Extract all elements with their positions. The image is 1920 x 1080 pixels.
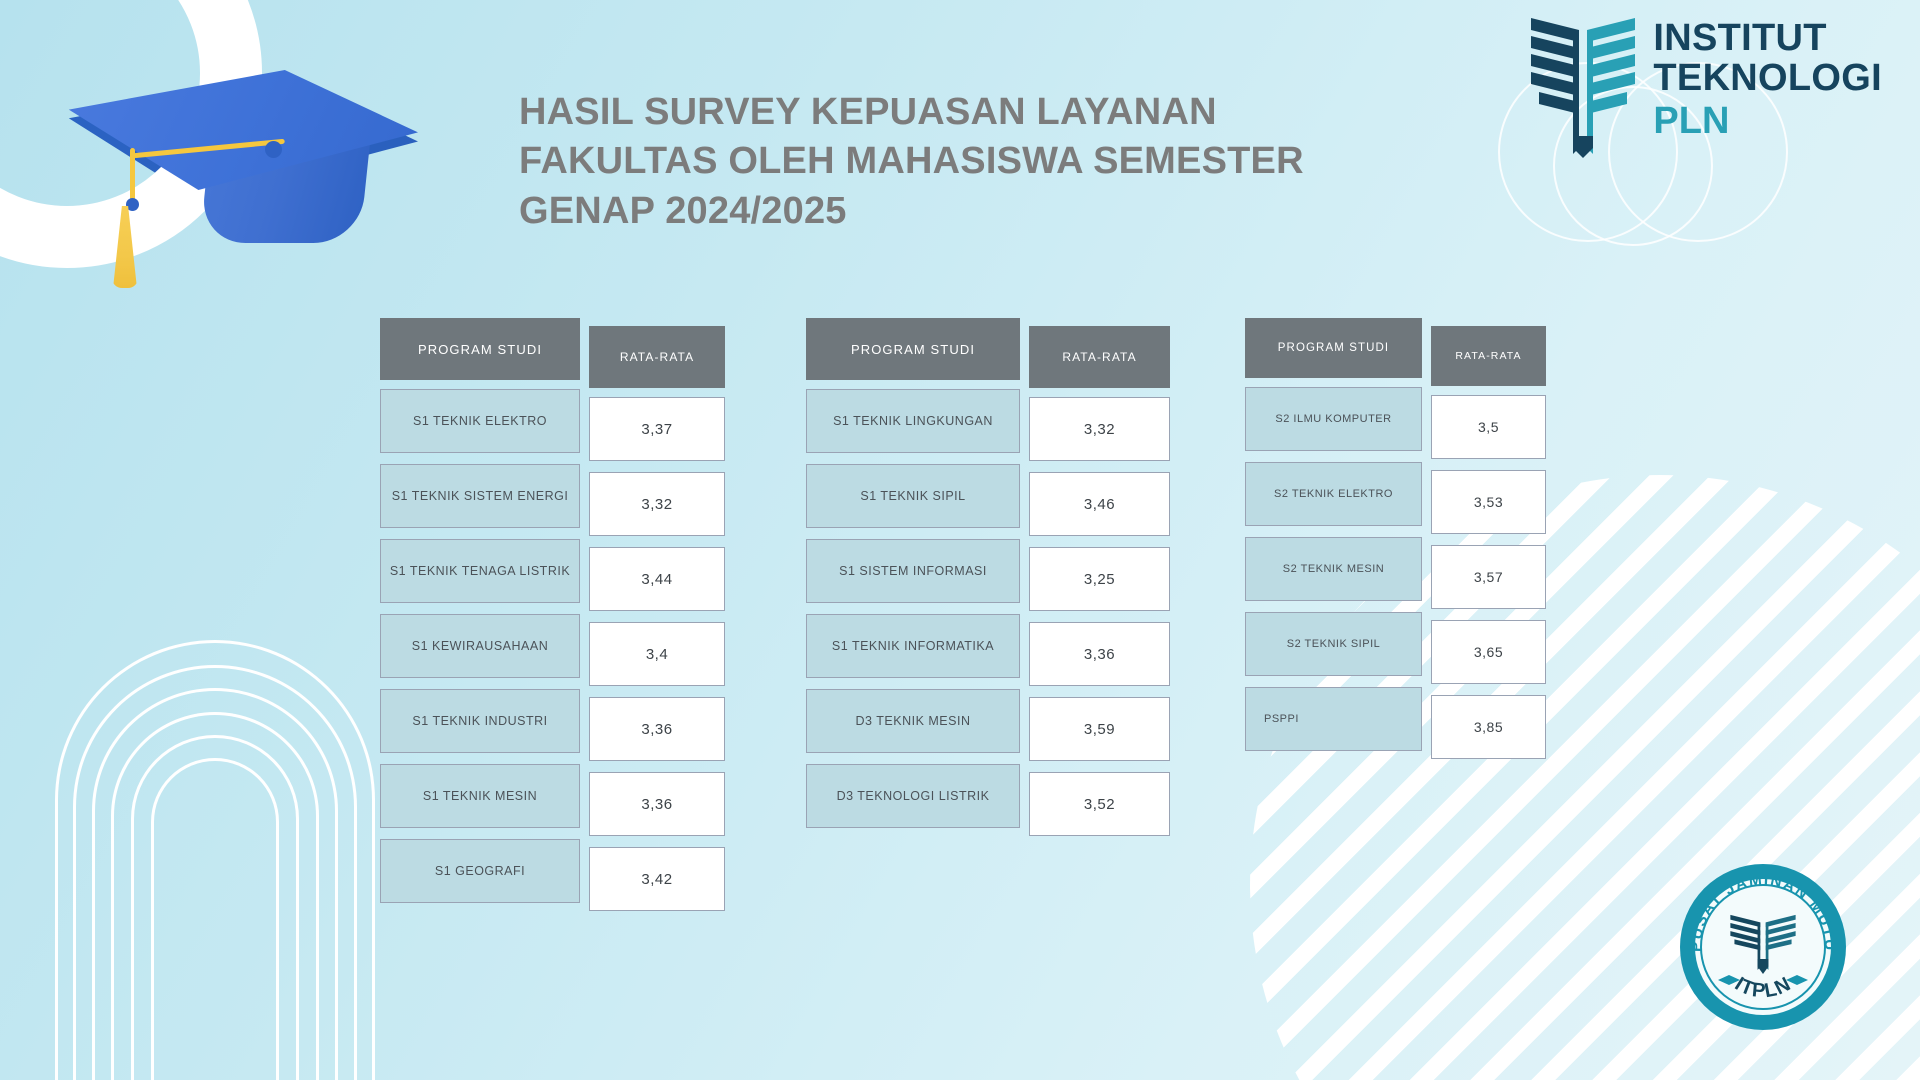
table-row: S1 TEKNIK ELEKTRO [380,389,580,453]
survey-table-2: PROGRAM STUDI S1 TEKNIK LINGKUNGAN S1 TE… [806,318,1170,847]
brand-line-pln: PLN [1653,101,1882,141]
table-cell-value: 3,85 [1431,695,1546,759]
table-cell-value: 3,36 [589,697,725,761]
table-cell-value: 3,32 [589,472,725,536]
table-cell-value: 3,42 [589,847,725,911]
pusat-jaminan-mutu-seal: PUSAT JAMINAN MUTU ITPLN [1678,862,1848,1032]
table-cell-value: 3,4 [589,622,725,686]
tassel-tail [112,206,138,288]
table-row: S1 TEKNIK TENAGA LISTRIK [380,539,580,603]
survey-table-3: PROGRAM STUDI S2 ILMU KOMPUTER S2 TEKNIK… [1245,318,1546,770]
table-3-average-column: RATA-RATA 3,5 3,53 3,57 3,65 3,85 [1431,318,1546,770]
arches-decoration [55,640,375,1080]
table-cell-value: 3,36 [589,772,725,836]
table-3-header-average: RATA-RATA [1431,326,1546,386]
table-row: S1 TEKNIK INDUSTRI [380,689,580,753]
table-row: D3 TEKNOLOGI LISTRIK [806,764,1020,828]
table-row: S1 SISTEM INFORMASI [806,539,1020,603]
table-1-header-program: PROGRAM STUDI [380,318,580,380]
table-3-program-column: PROGRAM STUDI S2 ILMU KOMPUTER S2 TEKNIK… [1245,318,1422,762]
table-row: D3 TEKNIK MESIN [806,689,1020,753]
table-cell-value: 3,65 [1431,620,1546,684]
brand-line-teknologi: TEKNOLOGI [1653,58,1882,98]
table-cell-value: 3,46 [1029,472,1170,536]
table-cell-value: 3,57 [1431,545,1546,609]
table-cell-value: 3,44 [589,547,725,611]
table-row: S1 TEKNIK SISTEM ENERGI [380,464,580,528]
table-cell-value: 3,53 [1431,470,1546,534]
table-2-header-program: PROGRAM STUDI [806,318,1020,380]
table-row: S1 KEWIRAUSAHAAN [380,614,580,678]
table-row: S2 TEKNIK MESIN [1245,537,1422,601]
table-row: PSPPI [1245,687,1422,751]
page-title-line-3: GENAP 2024/2025 [519,187,1399,236]
table-2-program-column: PROGRAM STUDI S1 TEKNIK LINGKUNGAN S1 TE… [806,318,1020,839]
table-2-average-column: RATA-RATA 3,32 3,46 3,25 3,36 3,59 3,52 [1029,318,1170,847]
table-cell-value: 3,32 [1029,397,1170,461]
page-title-line-2: FAKULTAS OLEH MAHASISWA SEMESTER [519,137,1399,186]
table-row: S1 TEKNIK LINGKUNGAN [806,389,1020,453]
itpln-book-wing-icon [1527,8,1639,158]
tassel-knob [265,141,282,158]
table-cell-value: 3,52 [1029,772,1170,836]
page-title-line-1: HASIL SURVEY KEPUASAN LAYANAN [519,88,1399,137]
itpln-brand-logo: INSTITUT TEKNOLOGI PLN [1527,8,1882,158]
table-cell-value: 3,37 [589,397,725,461]
table-row: S1 TEKNIK MESIN [380,764,580,828]
brand-line-institut: INSTITUT [1653,18,1882,58]
graduation-cap-illustration [40,58,470,288]
brand-text: INSTITUT TEKNOLOGI PLN [1653,8,1882,141]
page-title: HASIL SURVEY KEPUASAN LAYANAN FAKULTAS O… [519,88,1399,236]
table-cell-value: 3,25 [1029,547,1170,611]
table-row: S2 ILMU KOMPUTER [1245,387,1422,451]
table-1-average-column: RATA-RATA 3,37 3,32 3,44 3,4 3,36 3,36 3… [589,318,725,922]
table-2-header-average: RATA-RATA [1029,326,1170,388]
table-1-header-average: RATA-RATA [589,326,725,388]
table-cell-value: 3,59 [1029,697,1170,761]
table-cell-value: 3,5 [1431,395,1546,459]
table-3-header-program: PROGRAM STUDI [1245,318,1422,378]
table-row: S1 GEOGRAFI [380,839,580,903]
table-cell-value: 3,36 [1029,622,1170,686]
table-row: S1 TEKNIK INFORMATIKA [806,614,1020,678]
survey-table-1: PROGRAM STUDI S1 TEKNIK ELEKTRO S1 TEKNI… [380,318,725,922]
table-row: S2 TEKNIK ELEKTRO [1245,462,1422,526]
table-row: S1 TEKNIK SIPIL [806,464,1020,528]
table-row: S2 TEKNIK SIPIL [1245,612,1422,676]
table-1-program-column: PROGRAM STUDI S1 TEKNIK ELEKTRO S1 TEKNI… [380,318,580,914]
